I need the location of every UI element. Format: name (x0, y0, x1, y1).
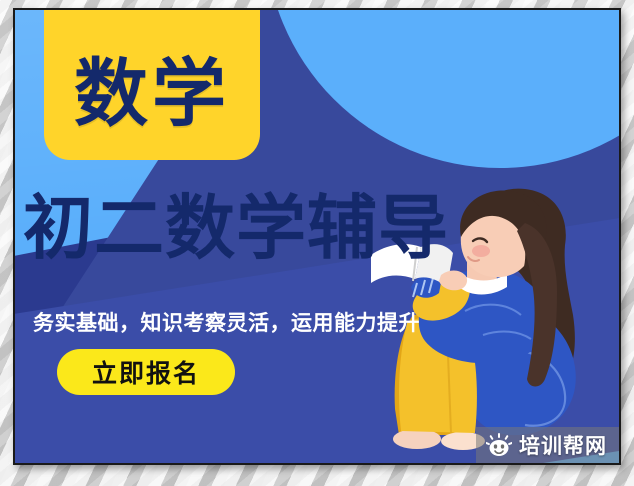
poster-subtitle: 务实基础，知识考察灵活，运用能力提升 (33, 307, 503, 337)
enroll-now-button[interactable]: 立即报名 (57, 349, 235, 395)
watermark: 培训帮网 (476, 427, 619, 463)
page-title: 初二数学辅导 (23, 192, 523, 266)
subject-tag-label: 数学 (74, 39, 230, 131)
course-promo-poster: 数学 (13, 8, 621, 465)
sun-smiley-icon (486, 433, 512, 457)
page-backdrop: 数学 (0, 0, 634, 486)
subject-tag: 数学 (44, 10, 260, 160)
watermark-label: 培训帮网 (519, 430, 607, 460)
foot-back-shape (393, 429, 441, 449)
